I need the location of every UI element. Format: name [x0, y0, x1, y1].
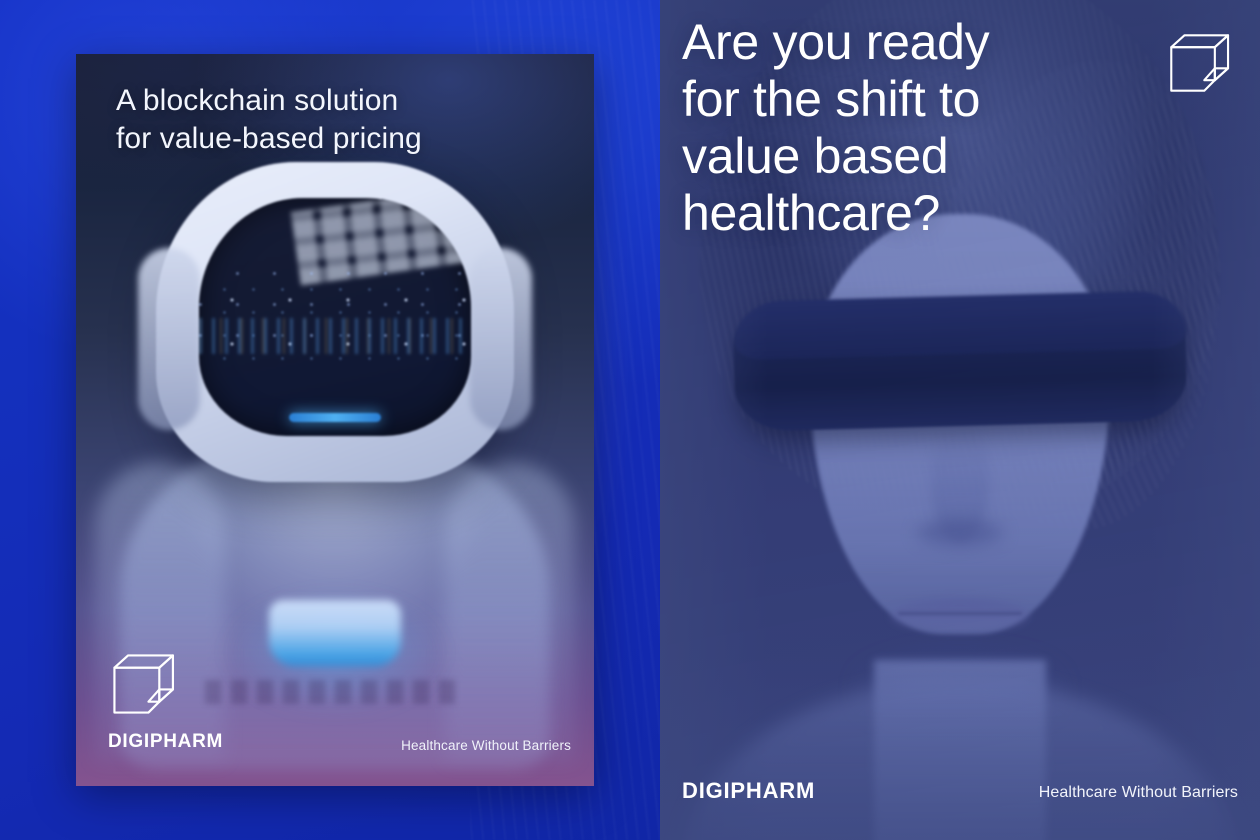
left-panel: A blockchain solution for value-based pr… [0, 0, 660, 840]
portrait-shoulders [680, 680, 1240, 840]
card-footer: DIGIPHARM Healthcare Without Barriers [76, 636, 594, 786]
hero-heading: Are you ready for the shift to value bas… [682, 14, 1102, 242]
card-title: A blockchain solution for value-based pr… [116, 82, 556, 158]
robot-helmet [156, 162, 514, 482]
visor-window-reflection [291, 198, 470, 285]
portrait-chin-shadow [865, 660, 1055, 720]
card-tagline: Healthcare Without Barriers [401, 738, 571, 753]
visor-city-lights [199, 318, 471, 354]
portrait-nose [931, 430, 989, 542]
right-panel: Are you ready for the shift to value bas… [660, 0, 1260, 840]
poster-showcase-stage: A blockchain solution for value-based pr… [0, 0, 1260, 840]
digipharm-cube-logo-icon [109, 650, 177, 718]
digipharm-cube-logo-icon [1166, 30, 1232, 96]
vr-blindfold [732, 294, 1187, 432]
helmet-visor [199, 198, 471, 436]
helmet-ear-left [138, 248, 200, 430]
visor-star-lights [199, 272, 471, 364]
hero-brand-name: DIGIPHARM [682, 778, 815, 804]
portrait-face [810, 214, 1110, 634]
brochure-card[interactable]: A blockchain solution for value-based pr… [76, 54, 594, 786]
vr-blindfold-highlight [733, 290, 1186, 360]
portrait-lip-line [898, 612, 1022, 615]
portrait-nose-shadow [917, 520, 1003, 546]
portrait-lips [891, 598, 1029, 632]
helmet-ear-right [470, 248, 532, 430]
portrait-neck [874, 660, 1046, 840]
card-brand-name: DIGIPHARM [108, 731, 223, 753]
hero-tagline: Healthcare Without Barriers [1039, 784, 1238, 802]
visor-led-bar [289, 413, 381, 422]
